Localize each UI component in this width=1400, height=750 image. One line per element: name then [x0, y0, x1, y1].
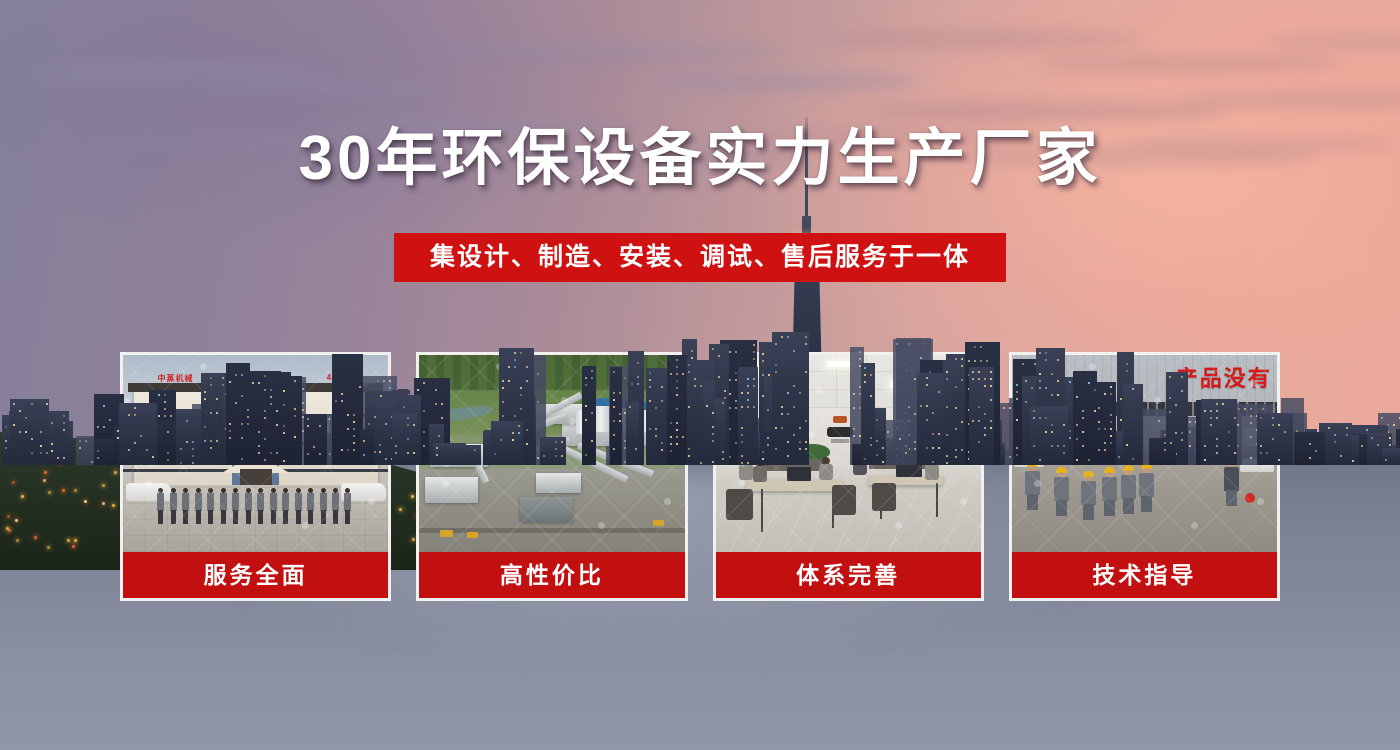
photo2-road — [419, 528, 684, 533]
photo4-red-helmet — [1245, 493, 1255, 503]
cloud — [868, 99, 1232, 122]
subtitle-container: 集设计、制造、安装、调试、售后服务于一体 — [0, 233, 1400, 282]
skyline-building — [540, 437, 566, 465]
cloud — [812, 27, 1148, 50]
skyline-building — [884, 420, 909, 465]
photo3-chair — [726, 489, 753, 521]
skyline-building — [969, 367, 994, 465]
cloud — [420, 41, 784, 64]
card-caption: 高性价比 — [416, 552, 687, 601]
bank-light — [67, 539, 70, 542]
skyline-building — [582, 366, 596, 465]
bank-light — [44, 471, 47, 474]
skyline-building — [249, 371, 282, 465]
bank-light — [74, 539, 77, 542]
photo2-shed — [520, 497, 573, 523]
photo3-desk-leg — [936, 483, 938, 516]
bank-light — [34, 536, 37, 539]
page-title: 30年环保设备实力生产厂家 — [0, 128, 1400, 190]
photo1-staff-member — [344, 488, 351, 524]
bank-light — [72, 545, 75, 548]
skyline-building — [667, 355, 687, 465]
bank-light — [102, 502, 105, 505]
photo1-staff-member — [195, 488, 202, 524]
photo3-chair — [832, 485, 856, 515]
bank-light — [21, 495, 24, 498]
skyline-building — [1149, 438, 1176, 465]
photo3-desk-leg — [761, 489, 763, 532]
skyline-building — [360, 429, 374, 465]
skyline-building — [37, 399, 49, 465]
skyline-building — [861, 363, 875, 465]
skyline-building — [772, 332, 809, 465]
cloud — [1036, 54, 1344, 72]
photo3-chair — [872, 483, 896, 511]
skyline-building — [1073, 371, 1098, 465]
photo1-staff-member — [157, 488, 164, 524]
skyline-building — [433, 443, 466, 465]
skyline-building — [1382, 448, 1400, 465]
photo1-staff-member — [270, 488, 277, 524]
cloud — [196, 81, 448, 99]
photo2-treeline — [419, 355, 684, 390]
skyline-building — [943, 360, 954, 465]
cloud — [644, 72, 924, 90]
bank-light — [8, 529, 11, 532]
bank-light — [102, 484, 105, 487]
photo2-building — [536, 473, 581, 493]
photo1-staff-member — [257, 488, 264, 524]
bank-light — [43, 479, 46, 482]
promo-banner: 30年环保设备实力生产厂家 集设计、制造、安装、调试、售后服务于一体 — [0, 0, 1400, 750]
photo2-loader — [467, 532, 478, 538]
bank-light — [47, 546, 50, 549]
skyline-building — [304, 414, 327, 465]
skyline-building — [610, 367, 623, 465]
bank-light — [74, 489, 77, 492]
skyline-building — [1257, 413, 1293, 465]
skyline-building — [1201, 399, 1237, 465]
photo3-monitor — [787, 467, 811, 481]
card-caption: 技术指导 — [1009, 552, 1280, 601]
photo1-staff-member — [207, 488, 214, 524]
bank-light — [84, 500, 87, 503]
bank-light — [16, 539, 19, 542]
skyline-building — [280, 372, 291, 465]
photo1-staff-member — [182, 488, 189, 524]
photo2-loader — [653, 520, 664, 526]
skyline-building — [119, 403, 157, 465]
card-caption: 体系完善 — [713, 552, 984, 601]
photo2-building — [425, 477, 478, 503]
bank-light — [48, 491, 51, 494]
photo1-staff-member — [295, 488, 302, 524]
card-caption: 服务全面 — [120, 552, 391, 601]
subtitle-banner: 集设计、制造、安装、调试、售后服务于一体 — [394, 233, 1006, 282]
bank-light — [12, 481, 15, 484]
photo1-staff-member — [282, 488, 289, 524]
photo1-staff-member — [220, 488, 227, 524]
bank-light — [62, 489, 65, 492]
bank-light — [7, 515, 10, 518]
photo1-staff-member — [320, 488, 327, 524]
skyline-building — [703, 380, 715, 466]
skyline-building — [226, 363, 251, 465]
photo1-staff-member — [245, 488, 252, 524]
photo1-staff-member — [232, 488, 239, 524]
photo1-staff-member — [332, 488, 339, 524]
photo1-staff-member — [307, 488, 314, 524]
photo4-wall-slogan: 产品没有 — [1176, 361, 1272, 393]
skyline-building — [1123, 384, 1143, 465]
photo2-loader — [440, 530, 453, 537]
skyline-building — [738, 367, 759, 465]
bank-light — [112, 504, 115, 507]
skyline-building — [1030, 406, 1068, 465]
bank-light — [15, 519, 18, 522]
bank-light — [114, 471, 117, 474]
skyline-building — [392, 413, 417, 465]
photo1-company-sign: 中蒸机械 — [157, 373, 193, 384]
skyline-building — [1294, 432, 1325, 465]
skyline-building — [491, 421, 523, 465]
skyline-building — [626, 402, 639, 465]
photo1-staff-member — [170, 488, 177, 524]
